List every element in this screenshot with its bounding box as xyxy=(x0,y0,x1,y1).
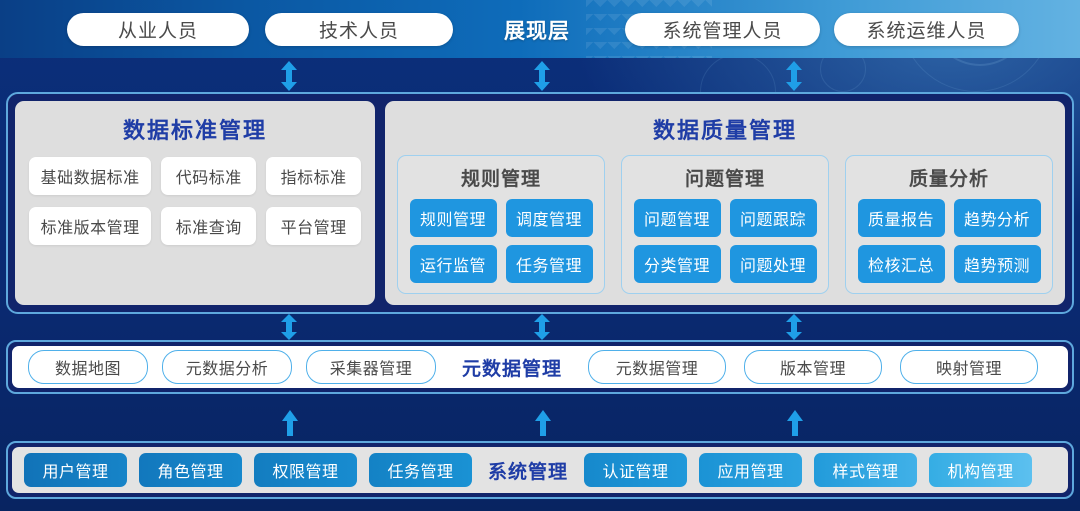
header-chip-label: 技术人员 xyxy=(319,16,399,43)
chip-standard-query[interactable]: 标准查询 xyxy=(161,207,256,245)
chip-style-management[interactable]: 样式管理 xyxy=(814,453,917,487)
chip-platform-management[interactable]: 平台管理 xyxy=(266,207,361,245)
connector-double-arrow-1 xyxy=(280,61,298,91)
subgroup-chip-grid: 规则管理 调度管理 运行监管 任务管理 xyxy=(410,199,593,283)
chip-mapping-management[interactable]: 映射管理 xyxy=(900,350,1038,384)
chip-auth-management[interactable]: 认证管理 xyxy=(584,453,687,487)
chip-user-management[interactable]: 用户管理 xyxy=(24,453,127,487)
subgroup-chip-grid: 质量报告 趋势分析 检核汇总 趋势预测 xyxy=(858,199,1041,283)
connector-double-arrow-2 xyxy=(533,61,551,91)
layer-title-system-management: 系统管理 xyxy=(488,457,568,484)
header-chip-system-ops[interactable]: 系统运维人员 xyxy=(834,13,1019,46)
chip-schedule-management[interactable]: 调度管理 xyxy=(506,199,593,237)
subgroup-quality-analysis: 质量分析 质量报告 趋势分析 检 xyxy=(845,155,1053,294)
subgroup-chip-grid: 问题管理 问题跟踪 分类管理 问题处理 xyxy=(634,199,817,283)
subgroup-chip-row: 质量报告 趋势分析 xyxy=(858,199,1041,237)
chip-rule-management[interactable]: 规则管理 xyxy=(410,199,497,237)
standard-chip-grid: 基础数据标准 代码标准 指标标准 标准版本管理 标准查询 xyxy=(29,157,361,245)
connector-up-arrow-3 xyxy=(786,410,804,440)
subgroup-rule-management: 规则管理 规则管理 调度管理 运 xyxy=(397,155,605,294)
chip-check-summary[interactable]: 检核汇总 xyxy=(858,245,945,283)
header-chip-label: 系统运维人员 xyxy=(866,16,986,43)
system-management-frame: 用户管理 角色管理 权限管理 任务管理 系统管理 认证管理 应用管理 样式管理 xyxy=(6,441,1074,499)
chip-code-standard[interactable]: 代码标准 xyxy=(161,157,256,195)
chip-runtime-supervision[interactable]: 运行监管 xyxy=(410,245,497,283)
subgroup-title-issue-management: 问题管理 xyxy=(685,164,765,191)
layer-title-metadata: 元数据管理 xyxy=(462,354,562,381)
chip-basic-data-standard[interactable]: 基础数据标准 xyxy=(29,157,151,195)
chip-role-management[interactable]: 角色管理 xyxy=(139,453,242,487)
chip-version-management[interactable]: 版本管理 xyxy=(744,350,882,384)
subgroup-issue-management: 问题管理 问题管理 问题跟踪 分 xyxy=(621,155,829,294)
chip-trend-analysis[interactable]: 趋势分析 xyxy=(954,199,1041,237)
chip-issue-tracking[interactable]: 问题跟踪 xyxy=(730,199,817,237)
standard-chip-row: 基础数据标准 代码标准 指标标准 xyxy=(29,157,361,195)
metadata-bar: 数据地图 元数据分析 采集器管理 元数据管理 元数据管理 版本管理 映射管理 xyxy=(12,346,1068,388)
panel-data-standard-management: 数据标准管理 基础数据标准 代码标准 指标标准 标准版本管理 xyxy=(15,101,375,305)
subgroup-chip-row: 问题管理 问题跟踪 xyxy=(634,199,817,237)
chip-task-management[interactable]: 任务管理 xyxy=(506,245,593,283)
chip-issue-handling[interactable]: 问题处理 xyxy=(730,245,817,283)
standard-chip-row: 标准版本管理 标准查询 平台管理 xyxy=(29,207,361,245)
architecture-diagram: 从业人员 技术人员 展现层 系统管理人员 系统运维人员 数据标准管理 xyxy=(0,0,1080,511)
chip-data-map[interactable]: 数据地图 xyxy=(28,350,148,384)
subgroup-chip-row: 规则管理 调度管理 xyxy=(410,199,593,237)
chip-metadata-analysis[interactable]: 元数据分析 xyxy=(162,350,292,384)
connector-double-arrow-3 xyxy=(785,61,803,91)
header-chip-practitioner[interactable]: 从业人员 xyxy=(67,13,249,46)
subgroup-title-quality-analysis: 质量分析 xyxy=(909,164,989,191)
chip-category-management[interactable]: 分类管理 xyxy=(634,245,721,283)
system-management-bar: 用户管理 角色管理 权限管理 任务管理 系统管理 认证管理 应用管理 样式管理 xyxy=(12,447,1068,493)
chip-metadata-management[interactable]: 元数据管理 xyxy=(588,350,726,384)
panel-data-quality-management: 数据质量管理 规则管理 规则管理 调度管理 xyxy=(385,101,1065,305)
panel-title-data-quality: 数据质量管理 xyxy=(653,113,797,145)
quality-subgroup-container: 规则管理 规则管理 调度管理 运 xyxy=(397,155,1053,294)
chip-quality-report[interactable]: 质量报告 xyxy=(858,199,945,237)
chip-application-management[interactable]: 应用管理 xyxy=(699,453,802,487)
header-chip-technician[interactable]: 技术人员 xyxy=(265,13,453,46)
subgroup-chip-row: 运行监管 任务管理 xyxy=(410,245,593,283)
chip-task-management-system[interactable]: 任务管理 xyxy=(369,453,472,487)
layer-title-presentation: 展现层 xyxy=(487,13,587,46)
subgroup-title-rule-management: 规则管理 xyxy=(461,164,541,191)
panel-title-data-standard: 数据标准管理 xyxy=(123,113,267,145)
chip-permission-management[interactable]: 权限管理 xyxy=(254,453,357,487)
header-chip-label: 系统管理人员 xyxy=(662,16,782,43)
connector-up-arrow-1 xyxy=(281,410,299,440)
chip-indicator-standard[interactable]: 指标标准 xyxy=(266,157,361,195)
connector-up-arrow-2 xyxy=(534,410,552,440)
chip-issue-management[interactable]: 问题管理 xyxy=(634,199,721,237)
chip-standard-version-management[interactable]: 标准版本管理 xyxy=(29,207,151,245)
chip-organization-management[interactable]: 机构管理 xyxy=(929,453,1032,487)
presentation-layer-header: 从业人员 技术人员 展现层 系统管理人员 系统运维人员 xyxy=(0,0,1080,58)
subgroup-chip-row: 分类管理 问题处理 xyxy=(634,245,817,283)
header-chip-system-admin[interactable]: 系统管理人员 xyxy=(625,13,820,46)
subgroup-chip-row: 检核汇总 趋势预测 xyxy=(858,245,1041,283)
chip-trend-forecast[interactable]: 趋势预测 xyxy=(954,245,1041,283)
governance-main-frame: 数据标准管理 基础数据标准 代码标准 指标标准 标准版本管理 xyxy=(6,92,1074,314)
chip-collector-management[interactable]: 采集器管理 xyxy=(306,350,436,384)
header-chip-label: 从业人员 xyxy=(118,16,198,43)
metadata-layer-frame: 数据地图 元数据分析 采集器管理 元数据管理 元数据管理 版本管理 映射管理 xyxy=(6,340,1074,394)
